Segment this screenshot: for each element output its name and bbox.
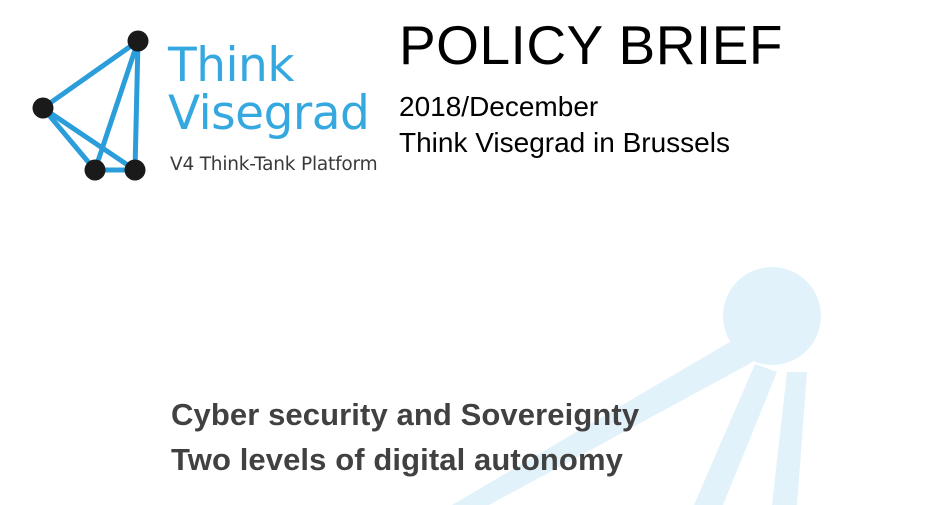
- brief-header: Think Visegrad V4 Think-Tank Platform PO…: [0, 0, 929, 205]
- think-visegrad-logo: Think Visegrad V4 Think-Tank Platform: [18, 14, 373, 194]
- header-text-block: POLICY BRIEF 2018/December Think Visegra…: [399, 18, 919, 161]
- issue-event: Think Visegrad in Brussels: [399, 125, 919, 161]
- policy-brief-page: Think Visegrad V4 Think-Tank Platform PO…: [0, 0, 929, 505]
- logo-wordmark-line-2: Visegrad: [168, 90, 378, 138]
- logo-wordmark-line-1: Think: [168, 42, 378, 90]
- logo-wordmark: Think Visegrad: [168, 42, 378, 138]
- page-title: POLICY BRIEF: [399, 18, 919, 73]
- logo-tagline: V4 Think-Tank Platform: [170, 154, 385, 175]
- document-title-line-1: Cyber security and Sovereignty: [171, 392, 871, 437]
- issue-date: 2018/December: [399, 89, 919, 125]
- header-meta: 2018/December Think Visegrad in Brussels: [399, 89, 919, 161]
- document-title: Cyber security and Sovereignty Two level…: [171, 392, 871, 483]
- document-title-line-2: Two levels of digital autonomy: [171, 437, 871, 482]
